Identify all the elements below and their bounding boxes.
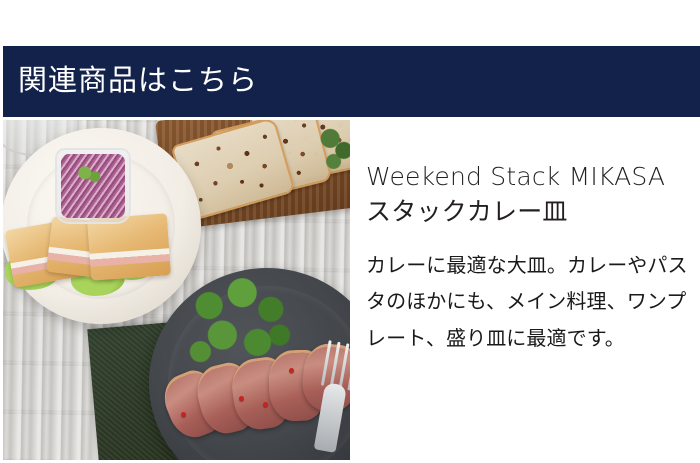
herb-garnish — [320, 124, 350, 172]
product-photo[interactable] — [3, 120, 350, 460]
onion-salad-glass — [55, 148, 131, 224]
pink-peppercorn — [239, 396, 244, 401]
fork-handle — [314, 382, 347, 453]
pink-peppercorn — [289, 368, 294, 373]
section-header-title: 関連商品はこちら — [3, 67, 258, 96]
related-products-section: 関連商品はこちら — [0, 0, 700, 463]
parsley-garnish — [77, 164, 103, 186]
product-title: Weekend Stack MIKASA スタックカレー皿 — [366, 160, 692, 229]
product-info: Weekend Stack MIKASA スタックカレー皿 カレーに最適な大皿。… — [366, 160, 692, 356]
product-description: カレーに最適な大皿。カレーやパスタのほかにも、メイン料理、ワンプレート、盛り皿に… — [366, 247, 692, 356]
product-title-en: Weekend Stack MIKASA — [366, 162, 665, 191]
section-header-bar: 関連商品はこちら — [3, 46, 700, 117]
product-title-jp: スタックカレー皿 — [366, 197, 568, 226]
pink-peppercorn — [263, 402, 268, 407]
pink-peppercorn — [181, 412, 186, 417]
product-photo-scene — [3, 120, 350, 460]
